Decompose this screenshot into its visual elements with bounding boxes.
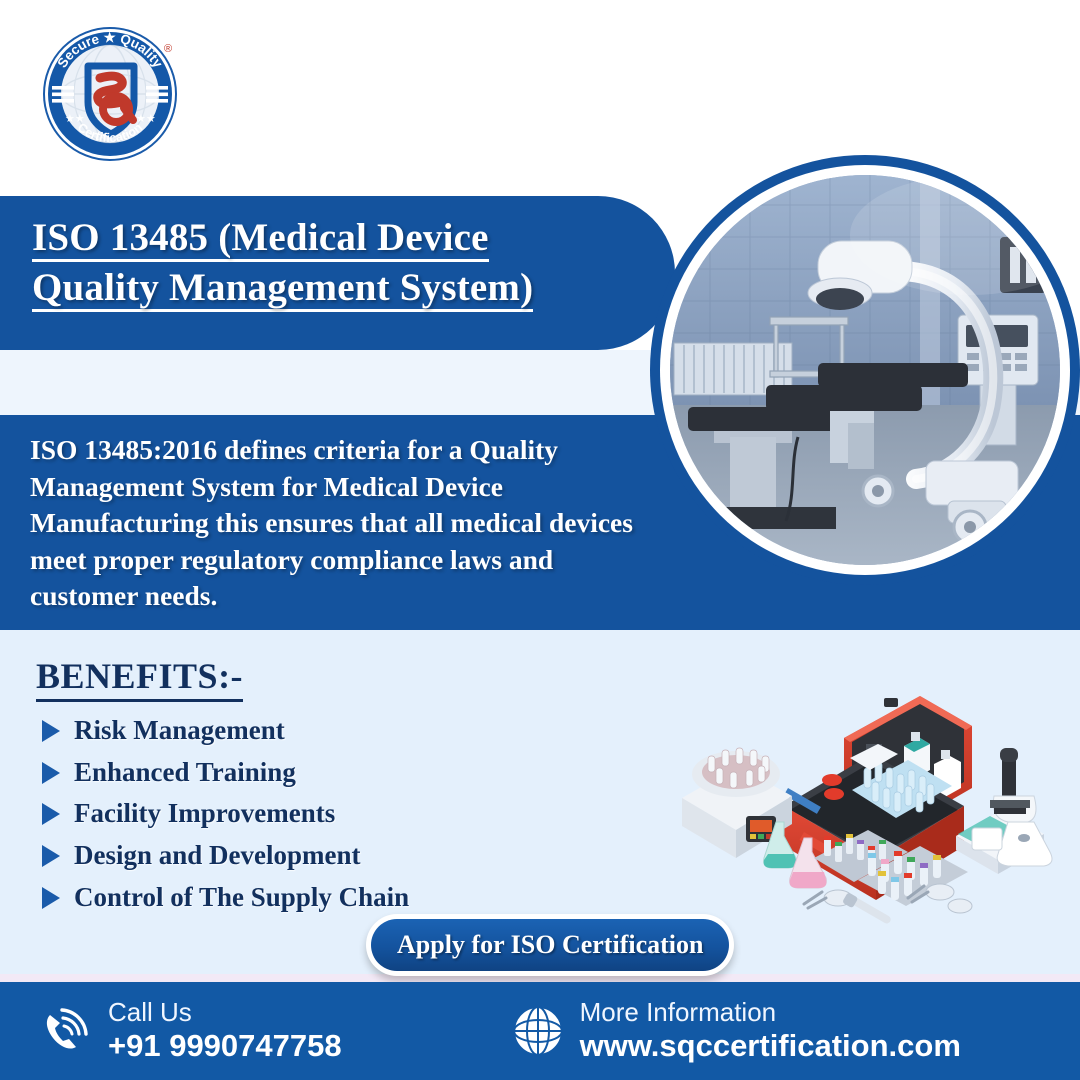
cta-wrapper: Apply for ISO Certification	[366, 914, 734, 976]
benefits-heading: BENEFITS:-	[36, 655, 243, 702]
more-information-text: More Information www.sqccertification.co…	[580, 998, 961, 1064]
benefit-label: Control of The Supply Chain	[74, 883, 409, 913]
title-banner: ISO 13485 (Medical Device Quality Manage…	[0, 196, 675, 350]
call-us-label: Call Us	[108, 998, 342, 1028]
benefit-label: Risk Management	[74, 716, 285, 746]
call-us-block[interactable]: Call Us +91 9990747758	[36, 998, 342, 1064]
list-item: Enhanced Training	[42, 758, 556, 788]
phone-number[interactable]: +91 9990747758	[108, 1028, 342, 1065]
triangle-bullet-icon	[42, 720, 60, 742]
triangle-bullet-icon	[42, 887, 60, 909]
triangle-bullet-icon	[42, 803, 60, 825]
svg-text:★★: ★★	[136, 113, 156, 125]
page-title-line-2: Quality Management System)	[32, 268, 533, 312]
website-url[interactable]: www.sqccertification.com	[580, 1028, 961, 1065]
description-text: ISO 13485:2016 defines criteria for a Qu…	[30, 432, 650, 615]
footer-bar: Call Us +91 9990747758 More I	[0, 982, 1080, 1080]
benefits-list: Risk Management Enhanced Training Facili…	[36, 716, 556, 912]
list-item: Control of The Supply Chain	[42, 883, 556, 913]
registered-mark: ®	[164, 43, 172, 55]
apply-for-iso-certification-button[interactable]: Apply for ISO Certification	[371, 919, 729, 971]
benefit-label: Enhanced Training	[74, 758, 296, 788]
phone-ring-icon	[36, 1002, 94, 1060]
triangle-bullet-icon	[42, 762, 60, 784]
more-information-block[interactable]: More Information www.sqccertification.co…	[510, 998, 961, 1064]
poster-root: Secure ★ Quality Certification ★★ ★★ ® I…	[0, 0, 1080, 1080]
lab-kit-illustration	[672, 640, 1072, 940]
list-item: Facility Improvements	[42, 799, 556, 829]
page-title-line-1: ISO 13485 (Medical Device	[32, 218, 489, 262]
globe-icon	[510, 1003, 566, 1059]
benefit-label: Facility Improvements	[74, 799, 335, 829]
more-information-label: More Information	[580, 998, 961, 1028]
benefit-label: Design and Development	[74, 841, 361, 871]
operating-room-photo	[670, 175, 1060, 565]
call-us-text: Call Us +91 9990747758	[108, 998, 342, 1064]
list-item: Risk Management	[42, 716, 556, 746]
svg-text:★★: ★★	[65, 113, 85, 125]
benefits-section: BENEFITS:- Risk Management Enhanced Trai…	[36, 655, 556, 924]
hero-photo-medallion	[650, 155, 1080, 585]
list-item: Design and Development	[42, 841, 556, 871]
triangle-bullet-icon	[42, 845, 60, 867]
company-logo[interactable]: Secure ★ Quality Certification ★★ ★★ ®	[38, 22, 182, 166]
